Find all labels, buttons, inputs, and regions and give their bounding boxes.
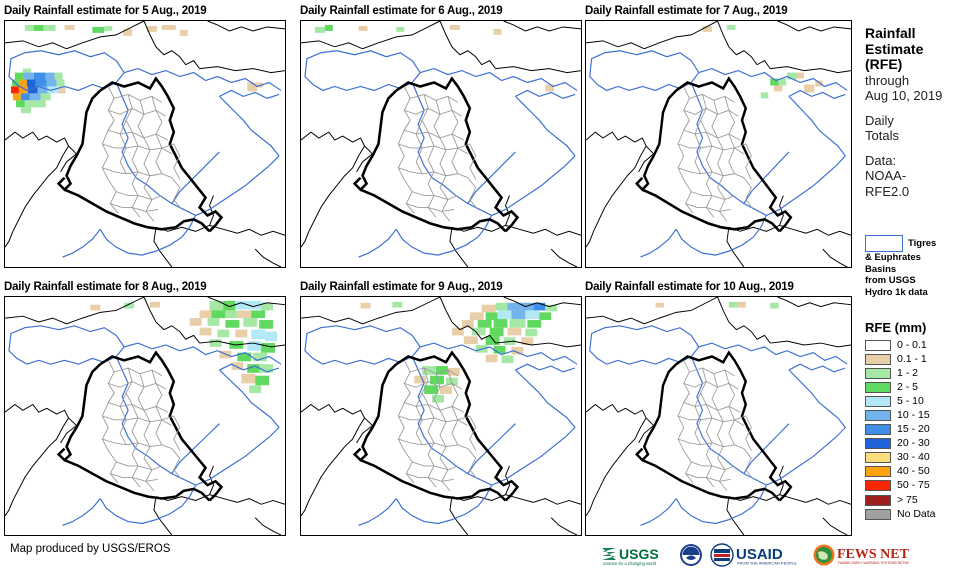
basin-line3: Basins [865, 264, 967, 276]
map-frame[interactable] [585, 20, 852, 268]
country-borders [586, 21, 851, 267]
rfe-scale: RFE (mm) 0 - 0.10.1 - 11 - 22 - 55 - 101… [865, 320, 967, 521]
rfe-class-label: 0 - 0.1 [897, 340, 927, 351]
rfe-class-label: 0.1 - 1 [897, 354, 927, 365]
rfe-color-swatch [865, 424, 891, 435]
svg-text:FAMINE EARLY WARNING SYSTEMS N: FAMINE EARLY WARNING SYSTEMS NETWORK [838, 561, 909, 565]
rfe-class-label: 50 - 75 [897, 480, 930, 491]
fewsnet-logo: FEWS NET FAMINE EARLY WARNING SYSTEMS NE… [813, 542, 909, 568]
rfe-class-row: 50 - 75 [865, 479, 967, 493]
admin-boundaries [102, 86, 181, 221]
panel-title: Daily Rainfall estimate for 8 Aug., 2019 [4, 280, 286, 294]
noaa-logo [679, 542, 703, 568]
rfe-class-label: 30 - 40 [897, 452, 930, 463]
rfe-class-label: 2 - 5 [897, 382, 918, 393]
country-borders [301, 21, 581, 267]
legend-data-line3: RFE2.0 [865, 184, 967, 200]
rainfall-map [301, 21, 581, 267]
rfe-class-label: > 75 [897, 495, 918, 506]
rfe-class-row: 10 - 15 [865, 408, 967, 422]
country-borders [5, 21, 285, 267]
map-panel-3: Daily Rainfall estimate for 7 Aug., 2019 [585, 4, 852, 272]
map-panel-5: Daily Rainfall estimate for 9 Aug., 2019 [300, 280, 582, 548]
rainfall-map [301, 297, 581, 535]
rfe-class-label: 10 - 15 [897, 410, 930, 421]
rfe-class-label: 20 - 30 [897, 438, 930, 449]
country-borders [301, 297, 581, 535]
svg-text:FEWS NET: FEWS NET [837, 547, 909, 562]
rfe-class-label: 15 - 20 [897, 424, 930, 435]
rfe-color-swatch [865, 410, 891, 421]
usaid-logo: USAID FROM THE AMERICAN PEOPLE [710, 542, 806, 568]
basin-label: Tigres [908, 235, 936, 252]
usgs-logo: USGS science for a changing world [600, 542, 672, 568]
rfe-class-row: 30 - 40 [865, 451, 967, 465]
rfe-color-swatch [865, 354, 891, 365]
rfe-class-row: 2 - 5 [865, 380, 967, 394]
basin-swatch [865, 235, 903, 252]
basin-legend: Tigres & Euphrates Basins from USGS Hydr… [865, 232, 967, 298]
panel-title: Daily Rainfall estimate for 10 Aug., 201… [585, 280, 852, 294]
rainfall-pixels [90, 301, 277, 393]
map-panel-1: Daily Rainfall estimate for 5 Aug., 2019 [4, 4, 286, 272]
admin-boundaries [678, 86, 753, 221]
panel-title: Daily Rainfall estimate for 7 Aug., 2019 [585, 4, 852, 18]
panel-title: Daily Rainfall estimate for 5 Aug., 2019 [4, 4, 286, 18]
rfe-class-row: > 75 [865, 493, 967, 507]
rainfall-pixels [656, 302, 779, 309]
rfe-color-swatch [865, 495, 891, 506]
map-panel-4: Daily Rainfall estimate for 8 Aug., 2019 [4, 280, 286, 548]
rfe-class-list: 0 - 0.10.1 - 11 - 22 - 55 - 1010 - 1515 … [865, 338, 967, 521]
svg-text:USGS: USGS [619, 546, 659, 562]
rfe-class-row: 5 - 10 [865, 394, 967, 408]
rfe-color-swatch [865, 438, 891, 449]
country-borders [586, 297, 851, 535]
basin-line5: Hydro 1k data [865, 287, 967, 299]
legend-title-line3: (RFE) [865, 57, 967, 73]
basin-line4: from USGS [865, 275, 967, 287]
rfe-class-row: 0.1 - 1 [865, 352, 967, 366]
rfe-class-row: 0 - 0.1 [865, 338, 967, 352]
rfe-class-label: No Data [897, 509, 936, 520]
legend-through-label: through [865, 73, 967, 89]
rfe-color-swatch [865, 382, 891, 393]
rfe-class-label: 1 - 2 [897, 368, 918, 379]
rfe-class-row: 1 - 2 [865, 366, 967, 380]
rfe-color-swatch [865, 396, 891, 407]
legend-data-line2: NOAA- [865, 168, 967, 184]
legend-totals-line2: Totals [865, 128, 967, 144]
map-frame[interactable] [300, 20, 582, 268]
rfe-color-swatch [865, 452, 891, 463]
map-panel-2: Daily Rainfall estimate for 6 Aug., 2019 [300, 4, 582, 272]
admin-boundaries [398, 86, 477, 221]
admin-boundaries [678, 360, 753, 491]
legend-totals-line1: Daily [865, 113, 967, 129]
rainfall-map [5, 21, 285, 267]
rainfall-map [5, 297, 285, 535]
rfe-color-swatch [865, 340, 891, 351]
svg-text:FROM THE AMERICAN PEOPLE: FROM THE AMERICAN PEOPLE [737, 561, 797, 566]
rfe-color-swatch [865, 480, 891, 491]
rfe-class-label: 5 - 10 [897, 396, 924, 407]
panel-title: Daily Rainfall estimate for 9 Aug., 2019 [300, 280, 582, 294]
map-frame[interactable] [300, 296, 582, 536]
rfe-scale-header: RFE (mm) [865, 320, 967, 335]
legend-data-line1: Data: [865, 153, 967, 169]
map-frame[interactable] [4, 20, 286, 268]
rfe-class-row: 40 - 50 [865, 465, 967, 479]
rainfall-map [586, 297, 851, 535]
admin-boundaries [398, 360, 477, 491]
rfe-color-swatch [865, 509, 891, 520]
legend-title-line1: Rainfall [865, 26, 967, 42]
rfe-color-swatch [865, 466, 891, 477]
agency-logos: USGS science for a changing world USAID … [600, 542, 909, 568]
basin-line2: & Euphrates [865, 252, 967, 264]
rfe-map-page: Daily Rainfall estimate for 5 Aug., 2019 [0, 0, 967, 576]
legend-through-date: Aug 10, 2019 [865, 88, 967, 104]
rfe-class-row: 20 - 30 [865, 437, 967, 451]
map-frame[interactable] [4, 296, 286, 536]
rfe-color-swatch [865, 368, 891, 379]
admin-boundaries [102, 360, 181, 491]
legend-title-line2: Estimate [865, 42, 967, 58]
map-frame[interactable] [585, 296, 852, 536]
svg-text:science for a changing world: science for a changing world [603, 561, 657, 566]
map-panel-6: Daily Rainfall estimate for 10 Aug., 201… [585, 280, 852, 548]
legend-panel: Rainfall Estimate (RFE) through Aug 10, … [862, 0, 967, 576]
map-credit: Map produced by USGS/EROS [10, 543, 170, 555]
rainfall-map [586, 21, 851, 267]
rfe-class-row: No Data [865, 507, 967, 521]
rfe-class-row: 15 - 20 [865, 423, 967, 437]
panel-title: Daily Rainfall estimate for 6 Aug., 2019 [300, 4, 582, 18]
rfe-class-label: 40 - 50 [897, 466, 930, 477]
